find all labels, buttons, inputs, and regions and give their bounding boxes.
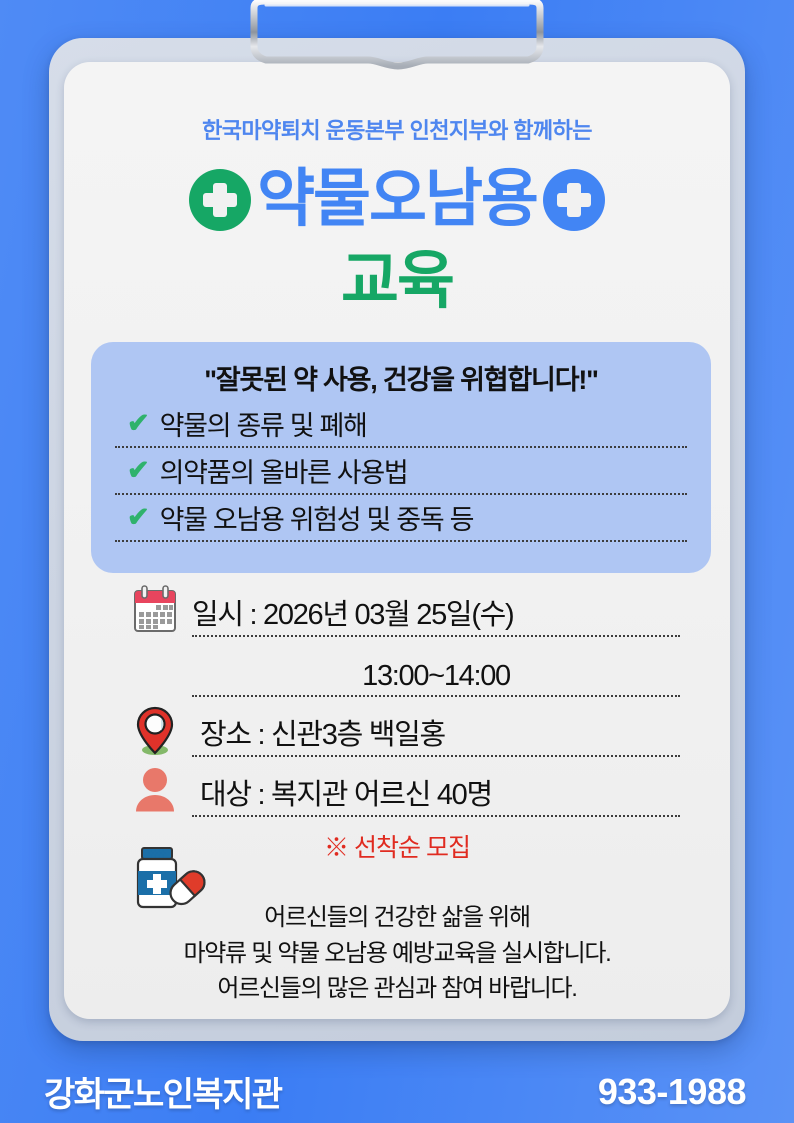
list-item: ✔ 약물 오남용 위험성 및 중독 등 xyxy=(115,497,687,542)
organization-name: 강화군노인복지관 xyxy=(44,1067,281,1116)
person-icon xyxy=(130,765,180,817)
detail-row-time: 13:00~14:00 xyxy=(130,645,680,697)
poster-title-row: 약물오남용 xyxy=(64,168,730,231)
check-icon: ✔ xyxy=(127,457,150,484)
blue-medical-cross-icon xyxy=(543,169,605,231)
description-block: 어르신들의 건강한 삶을 위해 마약류 및 약물 오남용 예방교육을 실시합니다… xyxy=(64,900,730,1007)
list-item-label: 약물 오남용 위험성 및 중독 등 xyxy=(160,498,474,537)
detail-text-date: 일시 : 2026년 03월 25일(수) xyxy=(192,591,680,637)
detail-text-audience: 대상 : 복지관 어르신 40명 xyxy=(192,771,680,817)
green-medical-cross-icon xyxy=(189,169,251,231)
list-item: ✔ 약물의 종류 및 폐해 xyxy=(115,403,687,448)
list-item: ✔ 의약품의 올바른 사용법 xyxy=(115,450,687,495)
description-line: 어르신들의 건강한 삶을 위해 xyxy=(64,900,730,936)
description-line: 어르신들의 많은 관심과 참여 바랍니다. xyxy=(64,971,730,1007)
details-list: 일시 : 2026년 03월 25일(수) 13:00~14:00 장소 : 신… xyxy=(130,585,680,817)
poster-title-line2: 교육 xyxy=(64,245,730,317)
phone-number: 933-1988 xyxy=(598,1071,746,1113)
poster-subtitle: 한국마약퇴치 운동본부 인천지부와 함께하는 xyxy=(64,113,730,145)
detail-row-location: 장소 : 신관3층 백일홍 xyxy=(130,705,680,757)
detail-row-audience: 대상 : 복지관 어르신 40명 xyxy=(130,765,680,817)
calendar-icon xyxy=(130,585,180,637)
spacer xyxy=(130,645,180,697)
detail-text-location: 장소 : 신관3층 백일홍 xyxy=(192,711,680,757)
description-line: 마약류 및 약물 오남용 예방교육을 실시합니다. xyxy=(64,936,730,972)
footer-bar: 강화군노인복지관 933-1988 xyxy=(0,1060,794,1123)
poster-paper: 한국마약퇴치 운동본부 인천지부와 함께하는 약물오남용 교육 "잘못된 약 사… xyxy=(64,62,730,1019)
list-item-label: 의약품의 올바른 사용법 xyxy=(160,451,408,490)
highlight-quote: "잘못된 약 사용, 건강을 위협합니다!" xyxy=(115,350,687,403)
clipboard-clip-icon xyxy=(232,0,562,92)
detail-text-time: 13:00~14:00 xyxy=(192,660,680,697)
highlight-box: "잘못된 약 사용, 건강을 위협합니다!" ✔ 약물의 종류 및 폐해 ✔ 의… xyxy=(91,342,711,573)
location-pin-icon xyxy=(130,705,180,757)
detail-row-date: 일시 : 2026년 03월 25일(수) xyxy=(130,585,680,637)
check-icon: ✔ xyxy=(127,504,150,531)
check-icon: ✔ xyxy=(127,410,150,437)
poster-title-line1: 약물오남용 xyxy=(257,168,537,231)
list-item-label: 약물의 종류 및 폐해 xyxy=(160,404,367,443)
